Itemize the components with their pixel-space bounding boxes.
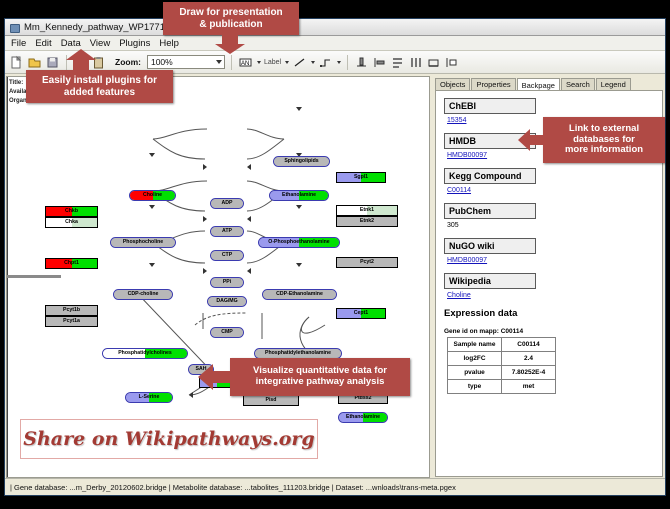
tab-properties[interactable]: Properties <box>471 78 515 90</box>
metabolite-node[interactable]: Sphingolipids <box>273 156 330 167</box>
callout-links-arrow-icon <box>518 127 545 153</box>
canvas-info-organism: Organ <box>9 98 27 104</box>
table-row: typemet <box>448 380 556 394</box>
metabolite-node[interactable]: Phosphatidylcholines <box>102 348 188 359</box>
open-file-icon[interactable] <box>27 55 42 70</box>
datanode-tool-icon[interactable]: AN <box>238 55 253 70</box>
gene-label: Chka <box>65 220 78 225</box>
arrow-cdpethn-to-ptdetn <box>296 263 302 267</box>
metabolite-label: CTP <box>222 253 232 258</box>
group-icon[interactable] <box>426 55 441 70</box>
callout-draw-text: Draw for presentation& publication <box>179 7 282 30</box>
arrow-to-atp <box>203 164 207 170</box>
metabolite-label: CDP-Ethanolamine <box>276 292 323 297</box>
gene-label: Pcyt1b <box>63 308 80 313</box>
callout-share-text: Share on Wikipathways.org <box>23 428 314 450</box>
zoom-combobox[interactable]: 100% <box>147 55 225 69</box>
metabolite-node[interactable]: Phosphocholine <box>110 237 176 248</box>
screenshot-root: Mm_Kennedy_pathway_WP1771_45176.gpml Fil… <box>0 0 670 509</box>
canvas-info-title: Title: <box>9 80 23 86</box>
gene-id-label: Gene id on mapp: C00114 <box>444 328 662 335</box>
callout-draw: Draw for presentation& publication <box>163 2 299 35</box>
toolbar-separator-3 <box>347 55 348 70</box>
metabolite-label: Phosphocholine <box>123 240 163 245</box>
pubchem-value: 305 <box>447 222 662 229</box>
wikipedia-header: Wikipedia <box>444 273 536 289</box>
expression-table: Sample nameC00114log2FC2.4pvalue7.80252E… <box>447 337 556 394</box>
table-cell: log2FC <box>448 352 502 366</box>
metabolite-label: Choline <box>143 193 162 198</box>
kegg-header: Kegg Compound <box>444 168 536 184</box>
canvas-info-availability: Availa <box>9 89 26 95</box>
metabolite-node[interactable]: DAG/MG <box>207 296 247 307</box>
tab-objects[interactable]: Objects <box>435 78 470 90</box>
gene-label: Pcyt2 <box>360 260 374 265</box>
metabolite-node[interactable]: ATP <box>210 226 244 237</box>
table-row: Sample nameC00114 <box>448 338 556 352</box>
metabolite-node[interactable]: CDP-Ethanolamine <box>262 289 337 300</box>
menu-item-edit[interactable]: Edit <box>35 38 51 49</box>
callout-plugins: Easily install plugins foradded features <box>26 70 173 103</box>
title-bar: Mm_Kennedy_pathway_WP1771_45176.gpml <box>5 19 665 36</box>
callout-draw-arrow-icon <box>212 33 248 55</box>
metabolite-label: DAG/MG <box>216 299 237 304</box>
save-file-icon[interactable] <box>45 55 60 70</box>
gene-label: Etnk1 <box>360 208 374 213</box>
table-cell: Sample name <box>448 338 502 352</box>
metabolite-node[interactable]: CMP <box>210 327 244 338</box>
table-row: log2FC2.4 <box>448 352 556 366</box>
arrow-to-ppi <box>203 216 207 222</box>
choline-backbone-line <box>7 77 8 275</box>
new-file-icon[interactable] <box>9 55 24 70</box>
table-cell: met <box>502 380 556 394</box>
arrow-to-cmp <box>203 268 207 274</box>
zoom-value: 100% <box>151 57 173 67</box>
gene-label: Chpt1 <box>64 261 79 266</box>
gene-node[interactable]: Chpt1 <box>45 258 98 269</box>
nugo-wiki-header: NuGO wiki <box>444 238 536 254</box>
expression-data-title: Expression data <box>444 308 662 319</box>
table-cell: 7.80252E-4 <box>502 366 556 380</box>
arrow-to-ppi-right <box>247 216 251 222</box>
metabolite-label: CMP <box>221 330 233 335</box>
gene-label: Pcyt1a <box>63 319 80 324</box>
gene-node[interactable]: Sgpl1 <box>336 172 386 183</box>
arrow-sphingolipids-to-etn <box>296 107 302 111</box>
gene-label: Ptdss2 <box>354 396 371 401</box>
gene-node[interactable]: Pcyt1a <box>45 316 98 327</box>
metabolite-node[interactable]: Ethanolamine <box>269 190 329 201</box>
gene-node[interactable]: Pcyt1b <box>45 305 98 316</box>
table-cell: pvalue <box>448 366 502 380</box>
gene-node[interactable]: Cept1 <box>336 308 386 319</box>
pubchem-header: PubChem <box>444 203 536 219</box>
metabolite-node[interactable]: Ethanolamine <box>338 412 388 423</box>
metabolite-node[interactable]: PPi <box>210 277 244 288</box>
metabolite-label: PPi <box>223 280 231 285</box>
label-tool-button[interactable]: Label <box>264 59 281 66</box>
arrow-to-atp-right <box>247 164 251 170</box>
zoom-label: Zoom: <box>115 57 141 67</box>
metabolite-node[interactable]: L-Serine <box>125 392 173 403</box>
table-cell: C00114 <box>502 338 556 352</box>
tab-search[interactable]: Search <box>561 78 595 90</box>
menu-bar: File Edit Data View Plugins Help <box>5 36 665 51</box>
gene-label: Cept1 <box>354 311 368 316</box>
gene-node[interactable]: Etnk1 <box>336 205 398 216</box>
gene-node[interactable]: Chka <box>45 217 98 228</box>
chevron-down-icon <box>216 60 222 64</box>
align-top-icon[interactable] <box>354 55 369 70</box>
connector-dropdown-icon[interactable] <box>337 61 341 64</box>
metabolite-node[interactable]: CDP-choline <box>113 289 173 300</box>
callout-visualize: Visualize quantitative data forintegrati… <box>230 358 410 396</box>
menu-item-file[interactable]: File <box>11 38 26 49</box>
same-width-icon[interactable] <box>408 55 423 70</box>
arrow-choline-to-phosphocholine <box>149 153 155 157</box>
label-dropdown-icon[interactable] <box>285 61 289 64</box>
gene-node[interactable]: Etnk2 <box>336 216 398 227</box>
wikipedia-link[interactable]: Choline <box>447 292 662 299</box>
metabolite-node[interactable]: ADP <box>210 198 244 209</box>
gene-label: Pisd <box>266 398 277 403</box>
callout-plugins-text: Easily install plugins foradded features <box>42 75 157 98</box>
metabolite-label: ATP <box>222 229 232 234</box>
gene-label: Chkb <box>65 209 78 214</box>
callout-links-text: Link to externaldatabases formore inform… <box>565 124 643 157</box>
connector-tool-icon[interactable] <box>318 55 333 70</box>
line-dropdown-icon[interactable] <box>311 61 315 64</box>
arrow-phosphocholine-to-cdp <box>149 205 155 209</box>
metabolite-node[interactable]: Choline <box>129 190 176 201</box>
metabolite-node[interactable]: CTP <box>210 250 244 261</box>
nugo-wiki-link[interactable]: HMDB00097 <box>447 257 662 264</box>
status-text: | Gene database: ...m_Derby_20120602.bri… <box>10 483 456 492</box>
callout-visualize-text: Visualize quantitative data forintegrati… <box>253 366 387 388</box>
chebi-header: ChEBI <box>444 98 536 114</box>
line-tool-icon[interactable] <box>292 55 307 70</box>
side-panel-tabs: Objects Properties Backpage Search Legen… <box>435 77 663 91</box>
table-cell: 2.4 <box>502 352 556 366</box>
metabolite-label: CDP-choline <box>128 292 159 297</box>
metabolite-label: Sphingolipids <box>284 159 318 164</box>
menu-item-plugins[interactable]: Plugins <box>119 38 150 49</box>
metabolite-label: Ethanolamine <box>346 415 380 420</box>
pathvisio-icon <box>9 22 20 33</box>
metabolite-label: O-Phosphoethanolamine <box>268 240 329 245</box>
gene-label: Sgpl1 <box>354 175 368 180</box>
metabolite-label: L-Serine <box>139 395 160 400</box>
arrow-to-cmp-right <box>247 268 251 274</box>
metabolite-label: Ethanolamine <box>282 193 316 198</box>
table-row: pvalue7.80252E-4 <box>448 366 556 380</box>
tab-legend[interactable]: Legend <box>596 78 631 90</box>
callout-plugins-arrow-icon <box>63 47 99 71</box>
metabolite-label: ADP <box>222 201 233 206</box>
metabolite-node[interactable]: O-Phosphoethanolamine <box>258 237 340 248</box>
arrow-cdp-to-ptdcho <box>149 263 155 267</box>
align-left-icon[interactable] <box>372 55 387 70</box>
gene-node[interactable]: Pcyt2 <box>336 257 398 268</box>
gene-node[interactable]: Pisd <box>243 395 299 406</box>
kegg-link[interactable]: C00114 <box>447 187 662 194</box>
distribute-vertical-icon[interactable] <box>390 55 405 70</box>
line-pcyt1-to-backbone <box>7 277 61 278</box>
gene-label: Etnk2 <box>360 219 374 224</box>
datanode-dropdown-icon[interactable] <box>257 61 261 64</box>
arrow-pethn-to-cdpethn <box>296 205 302 209</box>
arrow-to-choline-bottom <box>189 392 193 398</box>
callout-share: Share on Wikipathways.org <box>20 419 318 459</box>
callout-links: Link to externaldatabases formore inform… <box>543 117 665 163</box>
pathway-canvas[interactable]: Title: Availa Organ <box>6 76 430 478</box>
metabolite-label: Phosphatidylcholines <box>118 351 172 356</box>
status-bar: | Gene database: ...m_Derby_20120602.bri… <box>5 478 665 495</box>
metabolite-label: Phosphatidylethanolamine <box>265 351 331 356</box>
svg-text:AN: AN <box>241 61 249 67</box>
ethanolamine-backbone-line <box>7 278 8 478</box>
order-front-icon[interactable] <box>444 55 459 70</box>
callout-visualize-arrow-icon <box>198 362 232 392</box>
table-cell: type <box>448 380 502 394</box>
menu-item-help[interactable]: Help <box>159 38 179 49</box>
toolbar-separator-2 <box>231 55 232 70</box>
gene-node[interactable]: Chkb <box>45 206 98 217</box>
